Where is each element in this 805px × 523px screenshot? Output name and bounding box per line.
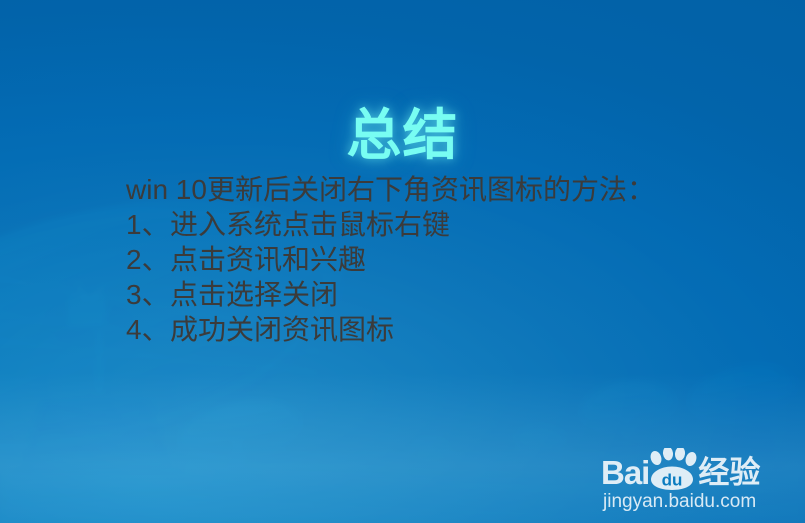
- watermark-url: jingyan.baidu.com: [601, 491, 791, 513]
- step-number-1: 1、: [126, 207, 170, 242]
- step-item-1: 1、进入系统点击鼠标右键: [126, 207, 726, 242]
- watermark-logo-row: Bai du 经验: [601, 448, 791, 490]
- baidu-jingyan-watermark: Bai du 经验 jingya: [601, 448, 791, 513]
- slide-body: win 10更新后关闭右下角资讯图标的方法： 1、进入系统点击鼠标右键 2、点击…: [126, 172, 726, 347]
- step-number-4: 4、: [126, 312, 170, 347]
- body-intro-line: win 10更新后关闭右下角资讯图标的方法：: [126, 172, 726, 207]
- step-text-1: 进入系统点击鼠标右键: [170, 209, 450, 240]
- jingyan-product-text: 经验: [698, 456, 760, 490]
- step-item-4: 4、成功关闭资讯图标: [126, 312, 726, 347]
- step-number-3: 3、: [126, 277, 170, 312]
- step-number-2: 2、: [126, 242, 170, 277]
- step-item-2: 2、点击资讯和兴趣: [126, 242, 726, 277]
- presentation-slide: 总结 win 10更新后关闭右下角资讯图标的方法： 1、进入系统点击鼠标右键 2…: [0, 0, 805, 523]
- step-text-4: 成功关闭资讯图标: [170, 314, 394, 345]
- baidu-paw-du-text: du: [662, 471, 683, 490]
- step-text-2: 点击资讯和兴趣: [170, 244, 366, 275]
- step-text-3: 点击选择关闭: [170, 279, 338, 310]
- slide-title: 总结: [0, 104, 805, 166]
- baidu-paw-icon: du: [647, 448, 697, 490]
- baidu-brand-text: Bai: [601, 456, 649, 490]
- step-item-3: 3、点击选择关闭: [126, 277, 726, 312]
